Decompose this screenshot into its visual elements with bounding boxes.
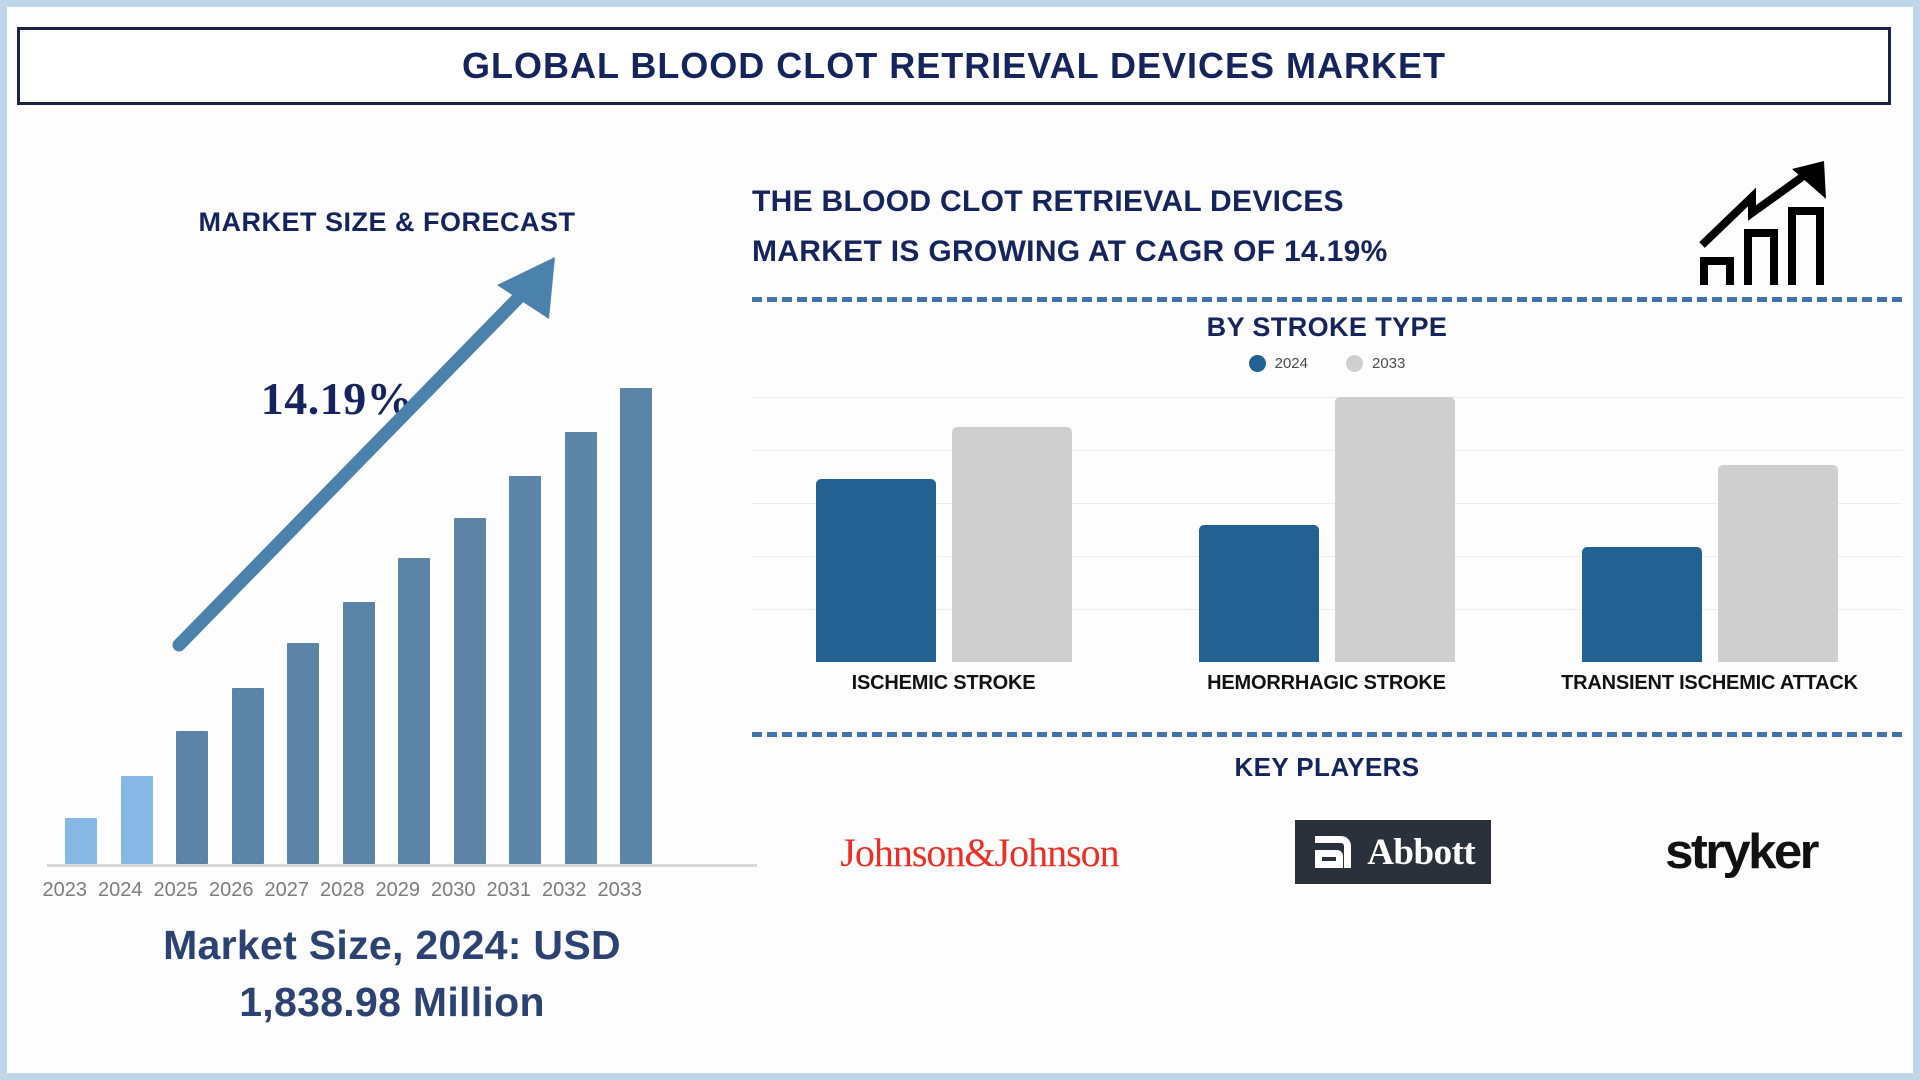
cagr-headline: THE BLOOD CLOT RETRIEVAL DEVICES MARKET … bbox=[752, 177, 1682, 277]
market-size-x-label: 2025 bbox=[148, 879, 204, 902]
market-size-line-2: 1,838.98 Million bbox=[239, 979, 545, 1025]
stroke-type-category-label: HEMORRHAGIC STROKE bbox=[1135, 672, 1518, 695]
market-size-bar bbox=[287, 643, 319, 864]
stroke-type-category-labels: ISCHEMIC STROKEHEMORRHAGIC STROKETRANSIE… bbox=[752, 672, 1902, 695]
divider-top bbox=[752, 297, 1902, 302]
legend-color-dot bbox=[1249, 355, 1266, 372]
cagr-headline-line-2: MARKET IS GROWING AT CAGR OF 14.19% bbox=[752, 235, 1388, 268]
market-size-bar bbox=[509, 476, 541, 864]
stroke-type-bar bbox=[816, 479, 936, 662]
stroke-type-bar bbox=[1718, 465, 1838, 662]
stroke-type-bar bbox=[1582, 547, 1702, 662]
cagr-headline-line-1: THE BLOOD CLOT RETRIEVAL DEVICES bbox=[752, 185, 1344, 218]
logo-johnson-and-johnson: Johnson&Johnson bbox=[840, 829, 1118, 876]
stroke-type-bar bbox=[952, 427, 1072, 662]
stroke-type-category-label: ISCHEMIC STROKE bbox=[752, 672, 1135, 695]
stroke-type-bar bbox=[1335, 397, 1455, 662]
market-size-x-label: 2029 bbox=[370, 879, 426, 902]
market-size-callout: Market Size, 2024: USD 1,838.98 Million bbox=[37, 917, 747, 1031]
market-size-bar bbox=[176, 731, 208, 864]
market-size-axis-line bbox=[47, 864, 757, 867]
market-size-forecast-panel: MARKET SIZE & FORECAST 14.19% 2023202420… bbox=[27, 157, 747, 1057]
legend-label: 2033 bbox=[1372, 355, 1405, 372]
stroke-type-title: BY STROKE TYPE bbox=[752, 312, 1902, 343]
chart-gridline bbox=[752, 450, 1902, 451]
abbott-wordmark: Abbott bbox=[1367, 831, 1475, 874]
market-size-heading: MARKET SIZE & FORECAST bbox=[137, 207, 637, 238]
market-size-bar-group bbox=[47, 537, 747, 864]
market-size-x-label: 2030 bbox=[426, 879, 482, 902]
stroke-type-bar-chart bbox=[752, 397, 1902, 662]
market-size-bar bbox=[232, 688, 264, 864]
market-size-bar bbox=[65, 818, 97, 864]
chart-gridline bbox=[752, 397, 1902, 398]
title-banner: GLOBAL BLOOD CLOT RETRIEVAL DEVICES MARK… bbox=[17, 27, 1891, 105]
market-size-bar bbox=[620, 388, 652, 864]
market-size-bar bbox=[343, 602, 375, 864]
legend-item[interactable]: 2024 bbox=[1249, 355, 1308, 372]
market-size-x-label: 2031 bbox=[481, 879, 537, 902]
logo-stryker: stryker bbox=[1665, 824, 1817, 880]
market-size-x-label: 2024 bbox=[93, 879, 149, 902]
key-players-title: KEY PLAYERS bbox=[752, 752, 1902, 783]
stroke-type-bar bbox=[1199, 525, 1319, 662]
market-size-bar bbox=[121, 776, 153, 864]
logo-abbott: Abbott bbox=[1295, 820, 1491, 884]
infographic-page: GLOBAL BLOOD CLOT RETRIEVAL DEVICES MARK… bbox=[0, 0, 1920, 1080]
market-size-x-label: 2032 bbox=[537, 879, 593, 902]
market-size-x-label: 2028 bbox=[315, 879, 371, 902]
market-size-line-1: Market Size, 2024: USD bbox=[163, 922, 621, 968]
market-size-bar bbox=[398, 558, 430, 864]
market-size-bar bbox=[565, 432, 597, 864]
market-size-x-label: 2033 bbox=[592, 879, 648, 902]
legend-color-dot bbox=[1346, 355, 1363, 372]
key-players-logos: Johnson&Johnson Abbott stryker bbox=[752, 797, 1902, 907]
stroke-type-category-label: TRANSIENT ISCHEMIC ATTACK bbox=[1518, 672, 1901, 695]
market-size-x-label: 2027 bbox=[259, 879, 315, 902]
page-title: GLOBAL BLOOD CLOT RETRIEVAL DEVICES MARK… bbox=[462, 45, 1446, 87]
stroke-type-panel: THE BLOOD CLOT RETRIEVAL DEVICES MARKET … bbox=[752, 157, 1907, 1062]
growth-chart-icon bbox=[1694, 157, 1834, 287]
market-size-x-label: 2023 bbox=[37, 879, 93, 902]
market-size-x-axis-labels: 2023202420252026202720282029203020312032… bbox=[37, 879, 737, 902]
market-size-x-label: 2026 bbox=[204, 879, 260, 902]
divider-bottom bbox=[752, 732, 1902, 737]
abbott-symbol-icon bbox=[1311, 830, 1355, 874]
legend-label: 2024 bbox=[1275, 355, 1308, 372]
market-size-bar bbox=[454, 518, 486, 864]
legend-item[interactable]: 2033 bbox=[1346, 355, 1405, 372]
stroke-type-legend: 20242033 bbox=[752, 355, 1902, 372]
